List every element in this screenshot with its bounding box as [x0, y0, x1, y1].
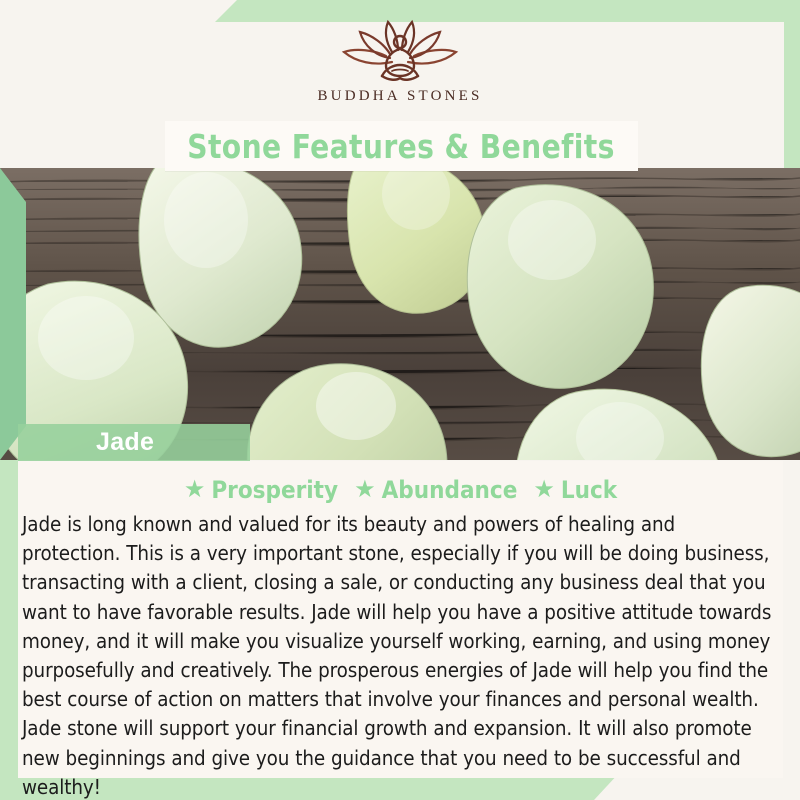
benefit-label: Luck	[561, 476, 617, 504]
stone-photo	[0, 168, 800, 460]
page-title: Stone Features & Benefits	[188, 127, 616, 166]
stone-name-band: Jade	[18, 424, 250, 461]
brand-header: BUDDHA STONES	[0, 0, 800, 120]
lotus-meditation-icon	[330, 18, 470, 84]
accent-strip-left	[0, 455, 18, 785]
infographic-card: BUDDHA STONES Stone Features & Benefits	[0, 0, 800, 800]
benefits-row: ★ Prosperity ★ Abundance ★ Luck	[18, 461, 783, 504]
benefit-label: Abundance	[382, 476, 518, 504]
star-icon: ★	[533, 478, 555, 502]
star-icon: ★	[184, 478, 206, 502]
star-icon: ★	[354, 478, 376, 502]
brand-name: BUDDHA STONES	[317, 88, 482, 105]
benefit-item-abundance: ★ Abundance	[354, 476, 517, 504]
benefit-item-luck: ★ Luck	[533, 476, 617, 504]
title-banner: Stone Features & Benefits	[165, 121, 638, 171]
benefit-item-prosperity: ★ Prosperity	[184, 476, 338, 504]
content-panel: ★ Prosperity ★ Abundance ★ Luck Jade is …	[18, 461, 783, 778]
benefit-label: Prosperity	[211, 476, 338, 504]
stone-description: Jade is long known and valued for its be…	[18, 510, 783, 800]
accent-shape-photo-left	[0, 168, 26, 460]
stone-name: Jade	[96, 428, 154, 457]
